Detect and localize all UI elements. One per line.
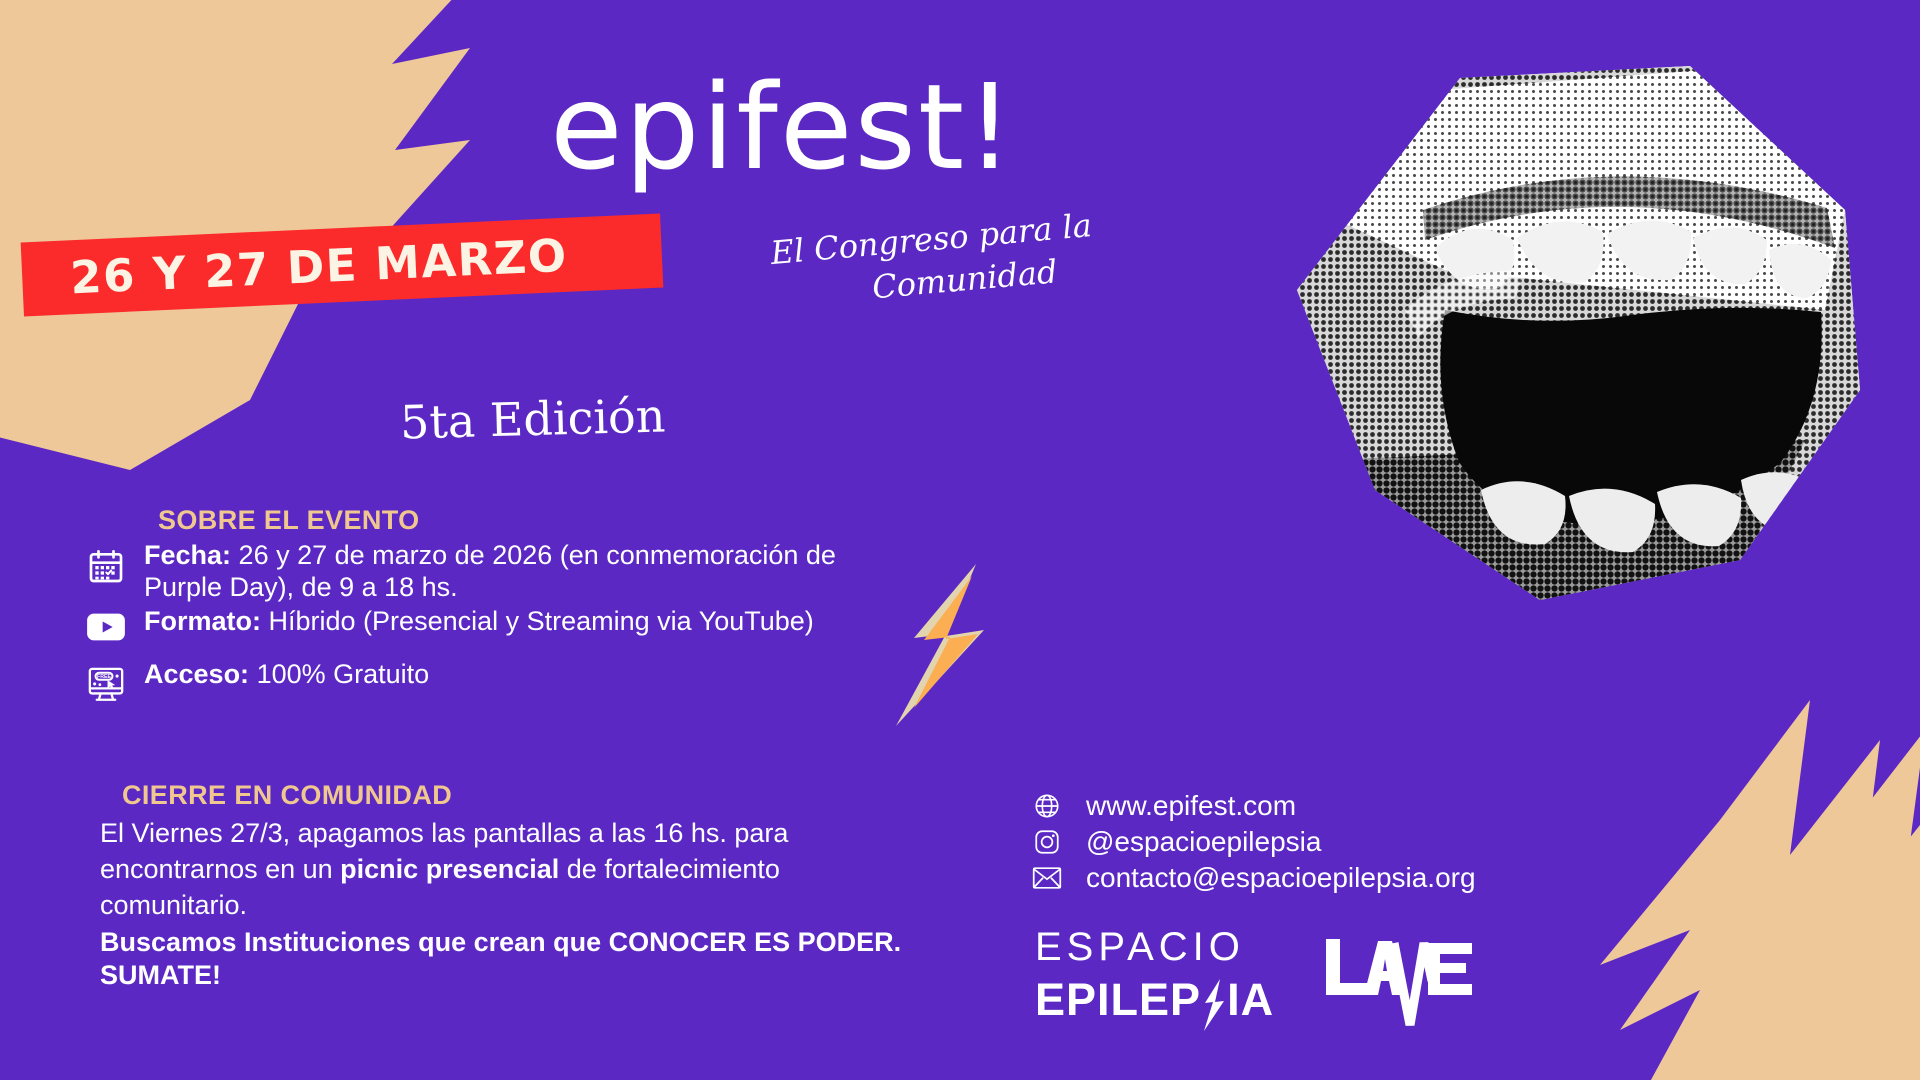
espacio-epilepsia-logo: ESPACIO EPILEP IA	[1035, 927, 1274, 1033]
lace-logo	[1320, 925, 1480, 1035]
event-row-fecha: Fecha: 26 y 27 de marzo de 2026 (en conm…	[80, 540, 880, 603]
contact-row-website[interactable]: www.epifest.com	[1030, 790, 1476, 822]
espacio-epilepsia-line2: EPILEP IA	[1035, 967, 1274, 1033]
event-row-formato-label: Formato:	[144, 606, 261, 636]
event-row-fecha-label: Fecha:	[144, 540, 231, 570]
lightning-bolt-accent	[880, 560, 1010, 735]
instagram-icon	[1030, 828, 1064, 856]
date-ribbon-text: 26 Y 27 DE MARZO	[69, 228, 569, 304]
zigzag-shape-top-left-secondary	[80, 30, 300, 430]
brand-lockup: epifest! El Congreso para la Comunidad	[540, 48, 1160, 338]
free-monitor-icon: FREE	[80, 659, 132, 709]
espacio-epilepsia-line2-a: EPILEP	[1035, 976, 1201, 1023]
event-details-section: SOBRE EL EVENTO	[80, 505, 880, 712]
contact-email-text: contacto@espacioepilepsia.org	[1086, 862, 1476, 894]
event-row-formato-value: Híbrido (Presencial y Streaming via YouT…	[269, 606, 814, 636]
cierre-body-bold: picnic presencial	[340, 854, 559, 884]
cierre-section-heading: CIERRE EN COMUNIDAD	[122, 780, 930, 811]
contact-row-instagram[interactable]: @espacioepilepsia	[1030, 826, 1476, 858]
event-row-fecha-text: Fecha: 26 y 27 de marzo de 2026 (en conm…	[144, 540, 844, 603]
espacio-epilepsia-line2-b: IA	[1227, 976, 1274, 1023]
cierre-body-text: El Viernes 27/3, apagamos las pantallas …	[100, 815, 930, 924]
contact-row-email[interactable]: contacto@espacioepilepsia.org	[1030, 862, 1476, 894]
brand-tagline: El Congreso para la Comunidad	[715, 199, 1151, 323]
event-row-acceso-text: Acceso: 100% Gratuito	[144, 659, 429, 691]
logo-lightning-bolt-icon	[1201, 967, 1227, 1033]
event-row-formato-text: Formato: Híbrido (Presencial y Streaming…	[144, 606, 814, 638]
event-section-heading: SOBRE EL EVENTO	[158, 505, 880, 536]
cierre-section: CIERRE EN COMUNIDAD El Viernes 27/3, apa…	[100, 780, 930, 993]
calendar-icon	[80, 540, 132, 590]
lace-wordmark-svg	[1320, 925, 1480, 1035]
svg-text:FREE: FREE	[97, 674, 111, 680]
poster-canvas: epifest! El Congreso para la Comunidad 2…	[0, 0, 1920, 1080]
partner-logos: ESPACIO EPILEP IA	[1035, 925, 1480, 1035]
edition-label: 5ta Edición	[399, 389, 666, 450]
halftone-mouth-image	[1285, 60, 1865, 640]
youtube-play-icon	[80, 606, 132, 656]
event-row-acceso: FREE Acceso: 100% Gratuito	[80, 659, 880, 709]
event-row-fecha-value: 26 y 27 de marzo de 2026 (en conmemoraci…	[144, 540, 836, 602]
espacio-epilepsia-line1: ESPACIO	[1035, 927, 1274, 967]
envelope-icon	[1030, 865, 1064, 891]
cierre-call-to-action: Buscamos Instituciones que crean que CON…	[100, 926, 930, 994]
contact-instagram-text: @espacioepilepsia	[1086, 826, 1321, 858]
event-row-acceso-label: Acceso:	[144, 659, 249, 689]
epifest-wordmark: epifest!	[550, 68, 1015, 186]
contact-list: www.epifest.com @espacioepilepsia cont	[1030, 790, 1476, 898]
contact-website-text: www.epifest.com	[1086, 790, 1296, 822]
event-row-acceso-value: 100% Gratuito	[257, 659, 430, 689]
zigzag-shape-bottom-right	[1600, 700, 1920, 1080]
event-row-formato: Formato: Híbrido (Presencial y Streaming…	[80, 606, 880, 656]
globe-icon	[1030, 792, 1064, 820]
